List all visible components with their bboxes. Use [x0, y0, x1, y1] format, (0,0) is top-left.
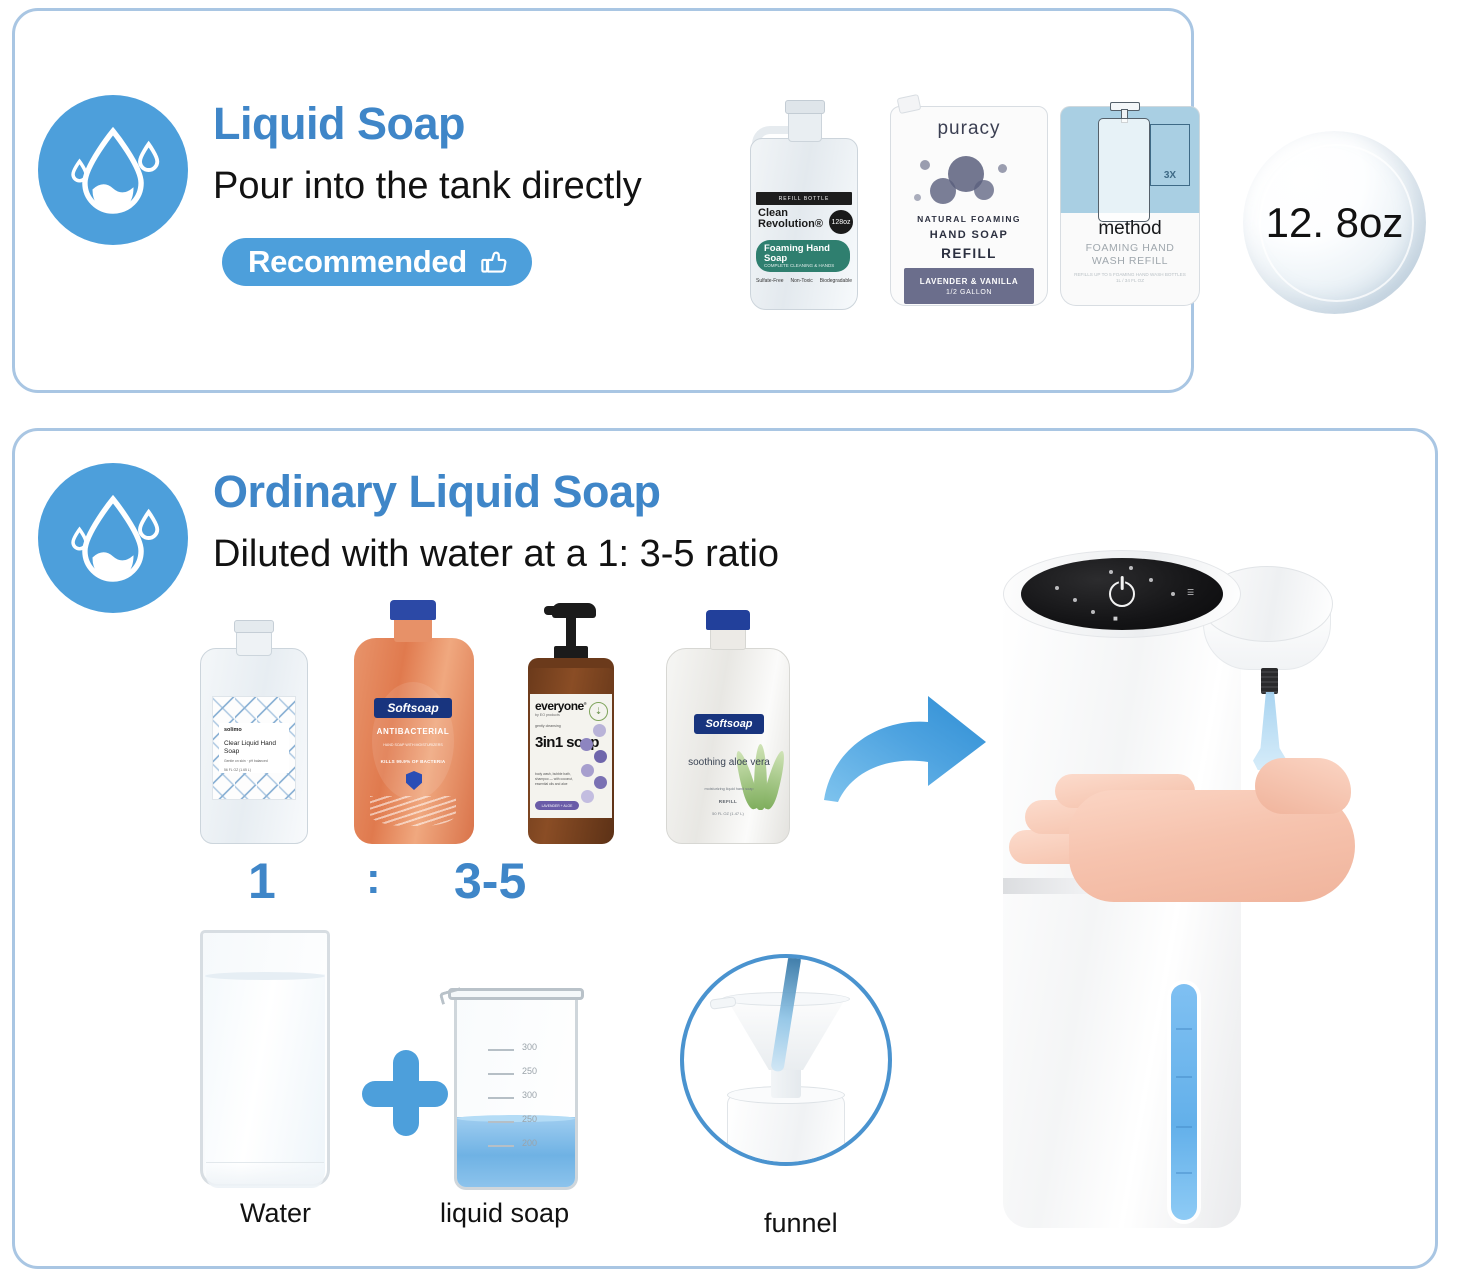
bottle-solimo-clear-liquid-hand-soap: solimo Clear Liquid Hand Soap Gentle on …	[196, 616, 312, 844]
softsoap-aloe-cap	[706, 610, 750, 630]
led-indicator	[1109, 570, 1113, 574]
beaker-mark: 300	[488, 1040, 562, 1064]
pouch-line-1: NATURAL FOAMING	[890, 214, 1048, 224]
dilution-ratio-row: 1 : 3-5	[186, 852, 616, 916]
ordinary-soap-bottle-row: solimo Clear Liquid Hand Soap Gentle on …	[186, 596, 786, 844]
softsoap-anti-claim: KILLS 99.9% OF BACTERIA	[374, 759, 452, 764]
mixing-instructions-row: 300 250 300 250 200	[186, 922, 886, 1202]
bottle-softsoap-antibacterial: Softsoap ANTIBACTERIAL HAND SOAP WITH MO…	[352, 600, 476, 844]
aloe-leaf-art	[738, 744, 784, 810]
method-fine-print: REFILLS UP TO 5 FOAMING HAND WASH BOTTLE…	[1074, 272, 1186, 285]
method-brand: method	[1060, 218, 1200, 240]
solimo-cap	[234, 620, 274, 633]
caption-liquid-soap: liquid soap	[440, 1198, 569, 1229]
recommended-label: Recommended	[248, 244, 467, 280]
volume-level-icon[interactable]: ☰	[1187, 588, 1194, 597]
jug-product-sub: COMPLETE CLEANING & HANDS	[764, 264, 842, 269]
thumb	[1255, 758, 1351, 814]
method-pump-bottle	[1098, 118, 1150, 222]
method-line-2: WASH REFILL	[1092, 255, 1168, 267]
jug-cap	[785, 100, 825, 114]
glass-water-fill	[205, 974, 325, 1184]
product-clean-revolution-jug: REFILL BOTTLE Clean Revolution® 128oz Fo…	[742, 100, 866, 312]
capacity-bubble: 12. 8oz	[1243, 131, 1426, 314]
solimo-neck	[236, 630, 272, 656]
beaker-mark-value: 200	[522, 1138, 537, 1148]
beaker-tick	[488, 1073, 514, 1075]
solimo-label: solimo Clear Liquid Hand Soap Gentle on …	[212, 696, 296, 800]
pouch-artwork	[890, 154, 1048, 206]
beaker-tick	[488, 1121, 514, 1123]
solimo-size: 56 FL OZ (1.65 L)	[224, 768, 284, 773]
bottle-softsoap-soothing-aloe-vera: Softsoap soothing aloe vera moisturizing…	[664, 610, 792, 844]
product-puracy-pouch: puracy NATURAL FOAMING HAND SOAP REFILL …	[890, 96, 1048, 312]
pouch-chip-variant: LAVENDER & VANILLA	[920, 277, 1019, 286]
water-droplet-icon	[38, 463, 188, 613]
thumbs-up-icon	[479, 247, 510, 278]
led-indicator	[1055, 586, 1059, 590]
caption-funnel: funnel	[764, 1208, 838, 1239]
page-title-liquid-soap: Liquid Soap	[213, 98, 465, 150]
everyone-dot-art	[579, 724, 609, 812]
soap-level-indicator	[1171, 984, 1197, 1220]
jug-claim-3: Biodegradable	[820, 278, 852, 284]
beaker-tick	[488, 1097, 514, 1099]
jug-product-line: Foaming Hand Soap COMPLETE CLEANING & HA…	[756, 240, 850, 272]
softsoap-aloe-brand: Softsoap	[694, 714, 764, 734]
solimo-fine: Gentle on skin · pH balanced	[224, 759, 284, 764]
led-indicator	[1073, 598, 1077, 602]
jug-size-badge: 128oz	[829, 210, 853, 234]
recommended-badge: Recommended	[222, 238, 532, 286]
ratio-separator: :	[366, 854, 381, 904]
glass-water-surface	[205, 972, 325, 980]
jug-label-banner: REFILL BOTTLE	[756, 192, 852, 205]
water-glass	[200, 930, 330, 1192]
glass-base	[206, 1162, 324, 1188]
hand-illustration	[1009, 738, 1355, 928]
subtitle-liquid-soap: Pour into the tank directly	[213, 165, 642, 208]
infographic-page: Liquid Soap Pour into the tank directly …	[0, 0, 1466, 1281]
beaker-mark: 250	[488, 1112, 562, 1136]
everyone-tiny: gently cleansing	[535, 724, 561, 729]
everyone-brand-text: everyone	[535, 699, 584, 713]
curved-right-arrow-icon	[818, 682, 994, 806]
beaker-mark-value: 250	[522, 1066, 537, 1076]
dispenser-nozzle	[1261, 668, 1278, 694]
everyone-desc: body wash, bubble bath, shampoo — with c…	[535, 772, 577, 786]
method-size: 1L / 34 FL OZ	[1116, 278, 1144, 283]
beaker-mark-value: 250	[522, 1114, 537, 1124]
everyone-pump-stem	[566, 614, 576, 648]
beaker-graduations: 300 250 300 250 200	[488, 1040, 562, 1160]
ratio-water-part: 1	[248, 852, 276, 910]
beaker-tick	[488, 1049, 514, 1051]
method-fine-text: REFILLS UP TO 5 FOAMING HAND WASH BOTTLE…	[1074, 272, 1186, 277]
dispenser-touch-panel[interactable]: ☰ ■	[1021, 558, 1223, 630]
ratio-soap-part: 3-5	[454, 852, 526, 910]
automatic-soap-dispenser: ☰ ■	[995, 522, 1355, 1237]
solimo-label-inner: solimo Clear Liquid Hand Soap Gentle on …	[219, 723, 289, 773]
softsoap-anti-sub: HAND SOAP WITH MOISTURIZERS	[372, 743, 454, 748]
softsoap-anti-cap	[390, 600, 436, 620]
capacity-bubble-text: 12. 8oz	[1266, 199, 1404, 247]
beaker-mark: 250	[488, 1064, 562, 1088]
pouch-line-2: HAND SOAP	[890, 229, 1048, 241]
jug-brand: Clean Revolution®	[758, 208, 836, 230]
subtitle-ordinary-liquid-soap: Diluted with water at a 1: 3-5 ratio	[213, 533, 779, 576]
beaker-mark-value: 300	[522, 1042, 537, 1052]
pouch-brand: puracy	[890, 118, 1048, 140]
everyone-byline: by EO products	[535, 713, 560, 717]
pouch-line-3: REFILL	[890, 246, 1048, 261]
measuring-beaker: 300 250 300 250 200	[454, 984, 578, 1190]
power-button-stem	[1121, 576, 1124, 590]
beaker-tick	[488, 1145, 514, 1147]
softsoap-aloe-size: 50 FL OZ (1.47 L)	[712, 811, 744, 816]
softsoap-anti-variant: ANTIBACTERIAL	[368, 727, 458, 736]
beaker-rim	[448, 988, 584, 1000]
beaker-mark: 200	[488, 1136, 562, 1160]
page-title-ordinary-liquid-soap: Ordinary Liquid Soap	[213, 466, 661, 518]
bottle-everyone-3in1-soap: everyone® by EO products gently cleansin…	[516, 594, 626, 844]
water-droplet-icon	[38, 95, 188, 245]
softsoap-aloe-refill: REFILL	[719, 799, 737, 804]
softsoap-anti-brand: Softsoap	[374, 698, 452, 718]
led-indicator	[1129, 566, 1133, 570]
everyone-label: everyone® by EO products gently cleansin…	[530, 694, 612, 818]
jug-product-line-text: Foaming Hand Soap	[764, 243, 830, 264]
jug-claim-2: Non-Toxic	[791, 278, 813, 284]
led-indicator	[1149, 578, 1153, 582]
beaker-mark: 300	[488, 1088, 562, 1112]
softsoap-aloe-variant: soothing aloe vera	[680, 757, 778, 768]
caption-water: Water	[240, 1198, 311, 1229]
jug-label-banner-text: REFILL BOTTLE	[779, 196, 830, 202]
softsoap-anti-wave-art	[370, 796, 456, 826]
softsoap-aloe-fine: moisturizing liquid hand soap	[686, 787, 772, 793]
battery-icon[interactable]: ■	[1113, 614, 1118, 623]
method-3x-badge: 3X	[1150, 124, 1190, 186]
dispenser-tank	[727, 1094, 845, 1166]
led-indicator	[1091, 610, 1095, 614]
pouch-variant-chip: LAVENDER & VANILLA 1/2 GALLON	[904, 268, 1034, 304]
product-method-pouch: 3X method FOAMING HAND WASH REFILL REFIL…	[1060, 96, 1200, 312]
method-line-1: FOAMING HAND	[1086, 242, 1175, 254]
leaf-badge-icon: ⇣	[589, 702, 608, 721]
everyone-brand: everyone®	[535, 699, 586, 713]
method-product-name: FOAMING HAND WASH REFILL	[1060, 242, 1200, 268]
solimo-brand: solimo	[224, 727, 284, 733]
led-indicator	[1171, 592, 1175, 596]
solimo-product: Clear Liquid Hand Soap	[224, 740, 284, 755]
everyone-variant-pill: LAVENDER + ALOE	[535, 801, 579, 810]
plus-icon	[362, 1050, 448, 1136]
funnel-illustration	[680, 954, 892, 1166]
beaker-mark-value: 300	[522, 1090, 537, 1100]
jug-claim-1: Sulfate-Free	[756, 278, 784, 284]
pouch-chip-size: 1/2 GALLON	[946, 289, 992, 296]
jug-claims: Sulfate-Free Non-Toxic Biodegradable	[756, 278, 852, 284]
